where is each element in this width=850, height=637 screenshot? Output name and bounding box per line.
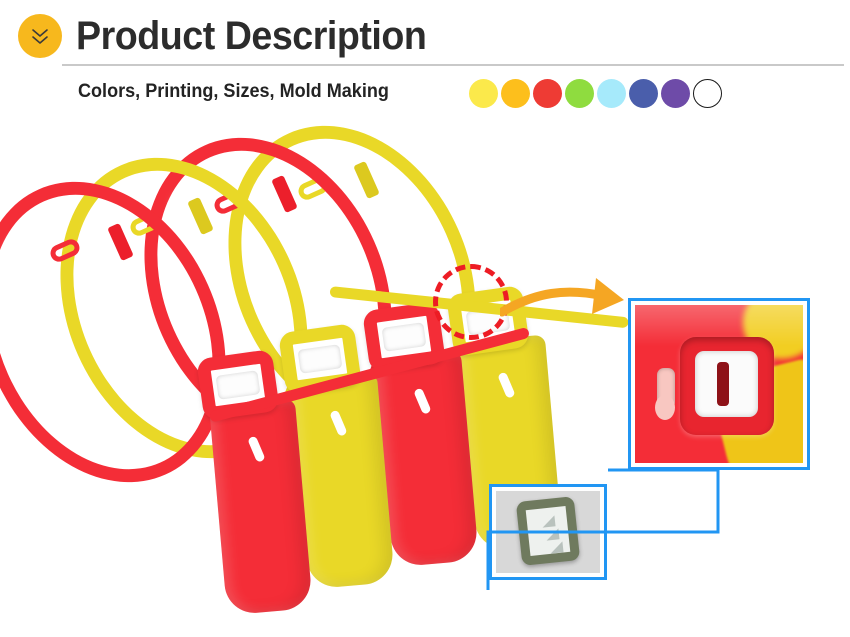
panel-slot: [247, 435, 265, 462]
inset-lock-closeup[interactable]: [628, 298, 810, 470]
subtitle-row: Colors, Printing, Sizes, Mold Making: [0, 76, 850, 114]
swatch-light-cyan[interactable]: [597, 79, 626, 108]
lock-pin: [717, 362, 729, 406]
swatch-lime-green[interactable]: [565, 79, 594, 108]
color-swatch-list: [469, 76, 722, 110]
product-description-page: Product Description Colors, Printing, Si…: [0, 0, 850, 637]
swatch-purple[interactable]: [661, 79, 690, 108]
lock-head-artwork: [635, 305, 803, 463]
panel-slot: [413, 387, 431, 414]
clip-tooth: [550, 541, 564, 553]
buckle-window: [216, 370, 261, 400]
swatch-slate-blue[interactable]: [629, 79, 658, 108]
buckle-window: [298, 344, 343, 374]
seal-label-panel: [209, 399, 313, 616]
swatch-yellow[interactable]: [469, 79, 498, 108]
inset-metal-clip[interactable]: [489, 484, 607, 580]
subtitle-text: Colors, Printing, Sizes, Mold Making: [78, 79, 389, 105]
curved-arrow-icon: [500, 270, 640, 350]
panel-slot: [497, 371, 515, 398]
panel-slot: [329, 409, 347, 436]
metal-clip-artwork: [496, 491, 600, 573]
swatch-red[interactable]: [533, 79, 562, 108]
double-chevron-down-icon[interactable]: [18, 14, 62, 58]
swatch-amber[interactable]: [501, 79, 530, 108]
page-header: Product Description: [0, 0, 850, 70]
lock-mechanism-highlight: [433, 264, 509, 340]
inset-metal-photo: [496, 491, 600, 573]
header-divider: [62, 64, 844, 66]
buckle-window: [382, 322, 427, 352]
inset-lock-photo: [635, 305, 803, 463]
clip-tooth: [545, 528, 559, 540]
page-title: Product Description: [76, 10, 426, 62]
side-slot-round: [655, 395, 675, 420]
swatch-white[interactable]: [693, 79, 722, 108]
clip-tooth: [541, 515, 555, 527]
